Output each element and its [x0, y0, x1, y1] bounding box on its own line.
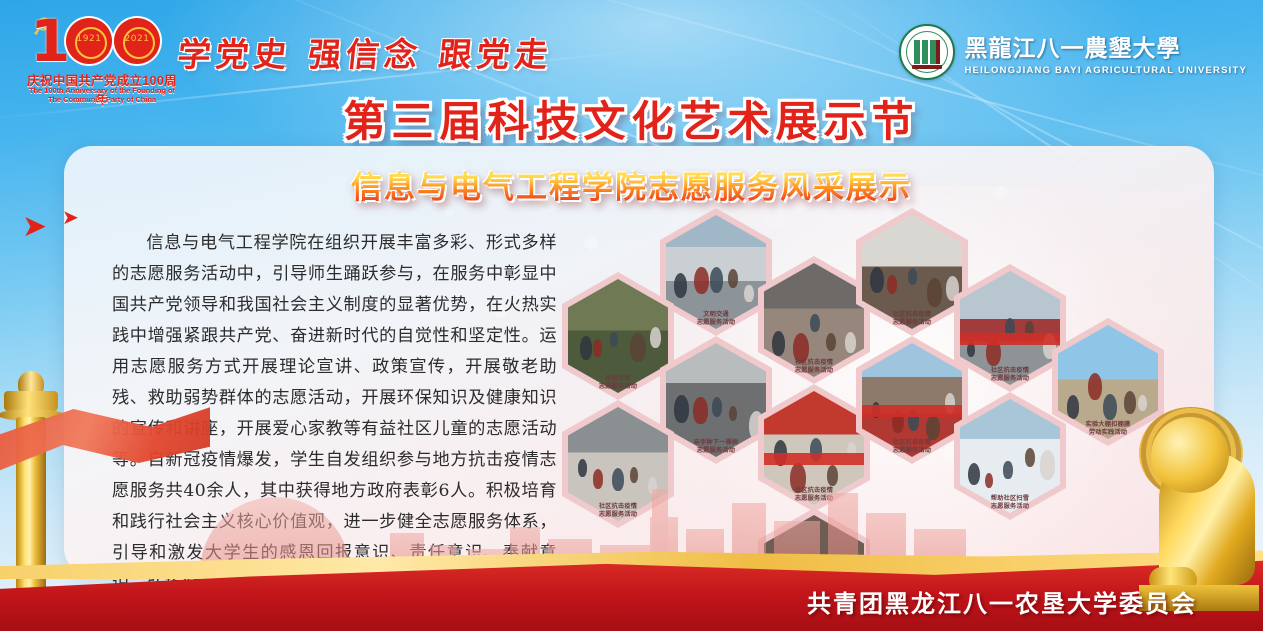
collage-photo-caption: 捡拾垃圾志愿服务活动: [562, 375, 674, 400]
photo-figure: [1067, 395, 1080, 419]
caption-line-1: 社区抗击疫情: [954, 367, 1066, 375]
collage-photo-community-1: 社区抗击疫情志愿服务活动: [758, 256, 870, 384]
seal-book-motif: [914, 40, 940, 64]
photo-figure: [772, 331, 785, 355]
photo-figure: [712, 397, 723, 417]
photo-figure: [650, 327, 661, 348]
collage-photo-caption: 社区抗击疫情志愿服务活动: [954, 367, 1066, 392]
photo-red-banner: [960, 333, 1060, 345]
cpc-year-1921: 1921: [66, 34, 112, 44]
photo-figure: [845, 332, 856, 353]
photo-figure: [728, 269, 738, 288]
photo-figure: [1003, 461, 1012, 478]
photo-figure: [580, 336, 593, 360]
collage-photo-litter: 捡拾垃圾志愿服务活动: [562, 272, 674, 400]
footer-organization: 共青团黑龙江八一农垦大学委员会: [807, 584, 1197, 619]
university-identity: 黑龍江八一農墾大學 HEILONGJIANG BAYI AGRICULTURAL…: [899, 24, 1248, 80]
caption-line-2: 志愿服务活动: [758, 367, 870, 375]
collage-photo-traffic: 文明交通志愿服务活动: [660, 208, 772, 336]
header-slogan: 学党史 强信念 跟党走: [175, 28, 555, 76]
caption-line-2: 志愿服务活动: [954, 503, 1066, 511]
cpc-zero-1921: 1921: [66, 18, 112, 64]
huabiao-capital: [4, 391, 58, 411]
photo-figure: [1124, 391, 1136, 414]
cpc-digit-one: 1: [30, 14, 70, 68]
caption-line-1: 社区抗击疫情: [758, 359, 870, 367]
collage-photo-caption: 文明交通志愿服务活动: [660, 311, 772, 336]
caption-line-1: 文明交通: [660, 311, 772, 319]
photo-figure: [1088, 373, 1102, 400]
caption-line-1: 捡拾垃圾: [562, 375, 674, 383]
collage-photo-snow-clearing: 帮助社区扫雪志愿服务活动: [954, 392, 1066, 520]
photo-figure: [826, 333, 836, 352]
photo-figure: [887, 275, 897, 294]
dove-icon: ➤ ➤: [22, 205, 112, 255]
photo-figure: [1025, 448, 1035, 467]
photo-figure: [927, 278, 942, 307]
photo-figure: [610, 332, 618, 347]
caption-line-1: 社区抗击疫情: [856, 311, 968, 319]
caption-line-2: 志愿服务活动: [856, 447, 968, 455]
collage-photo-community-6: 社区抗击疫情志愿服务活动: [856, 336, 968, 464]
caption-line-1: 亲手种下一棵树: [660, 439, 772, 447]
photo-figure: [926, 415, 940, 441]
collage-photo-caption: 社区抗击疫情志愿服务活动: [856, 311, 968, 336]
caption-line-2: 志愿服务活动: [856, 319, 968, 327]
photo-figure: [1103, 394, 1117, 420]
cpc-100-emblem: ☭ 1 1921 2021: [22, 14, 182, 70]
university-cn-name: 黑龍江八一農墾大學: [965, 29, 1248, 63]
photo-figure: [810, 314, 820, 332]
collage-photo-caption: 帮助社区扫雪志愿服务活动: [954, 495, 1066, 520]
photo-figure: [744, 285, 753, 302]
photo-figure: [694, 267, 709, 295]
caption-line-2: 志愿服务活动: [660, 447, 772, 455]
photo-figure: [729, 406, 737, 421]
photo-figure: [1040, 450, 1056, 480]
cpc-zero-2021: 2021: [114, 18, 160, 64]
bokeh-dot: [444, 206, 454, 216]
poster-board: ☭ 1 1921 2021 庆祝中国共产党成立100周年 The 100th A…: [0, 0, 1263, 631]
university-en-name: HEILONGJIANG BAYI AGRICULTURAL UNIVERSIT…: [965, 65, 1248, 76]
caption-line-2: 志愿服务活动: [954, 375, 1066, 383]
seal-base-motif: [912, 65, 942, 69]
collage-photo-caption: 社区抗击疫情志愿服务活动: [758, 359, 870, 384]
caption-line-1: 帮助社区扫雪: [954, 495, 1066, 503]
photo-figure: [985, 473, 993, 489]
collage-photo-community-2: 社区抗击疫情志愿服务活动: [856, 208, 968, 336]
dove-small-icon: ➤: [62, 205, 79, 230]
caption-line-1: 社区抗击疫情: [856, 439, 968, 447]
photo-figure: [674, 395, 689, 423]
caption-line-2: 志愿服务活动: [660, 319, 772, 327]
photo-figure: [870, 267, 884, 293]
photo-figure: [710, 267, 724, 293]
university-seal-icon: [899, 24, 955, 80]
dove-large-icon: ➤: [22, 209, 47, 244]
photo-figure: [908, 268, 917, 285]
exhibition-subtitle: 信息与电气工程学院志愿服务风采展示: [0, 162, 1263, 207]
photo-figure: [968, 463, 980, 486]
photo-figure: [593, 339, 603, 357]
photo-red-banner: [862, 405, 962, 417]
collage-photo-community-3: 社区抗击疫情志愿服务活动: [954, 264, 1066, 392]
lion-head: [1151, 417, 1229, 493]
collage-photo-plant-tree: 亲手种下一棵树志愿服务活动: [660, 336, 772, 464]
photo-figure: [693, 397, 707, 424]
cpc-year-2021: 2021: [114, 34, 160, 44]
photo-figure: [674, 273, 687, 298]
caption-line-2: 志愿服务活动: [562, 383, 674, 391]
photo-figure: [630, 333, 645, 362]
festival-title: 第三届科技文化艺术展示节: [0, 88, 1263, 149]
university-name-block: 黑龍江八一農墾大學 HEILONGJIANG BAYI AGRICULTURAL…: [965, 29, 1248, 76]
guardian-lion-icon: [1139, 381, 1259, 611]
